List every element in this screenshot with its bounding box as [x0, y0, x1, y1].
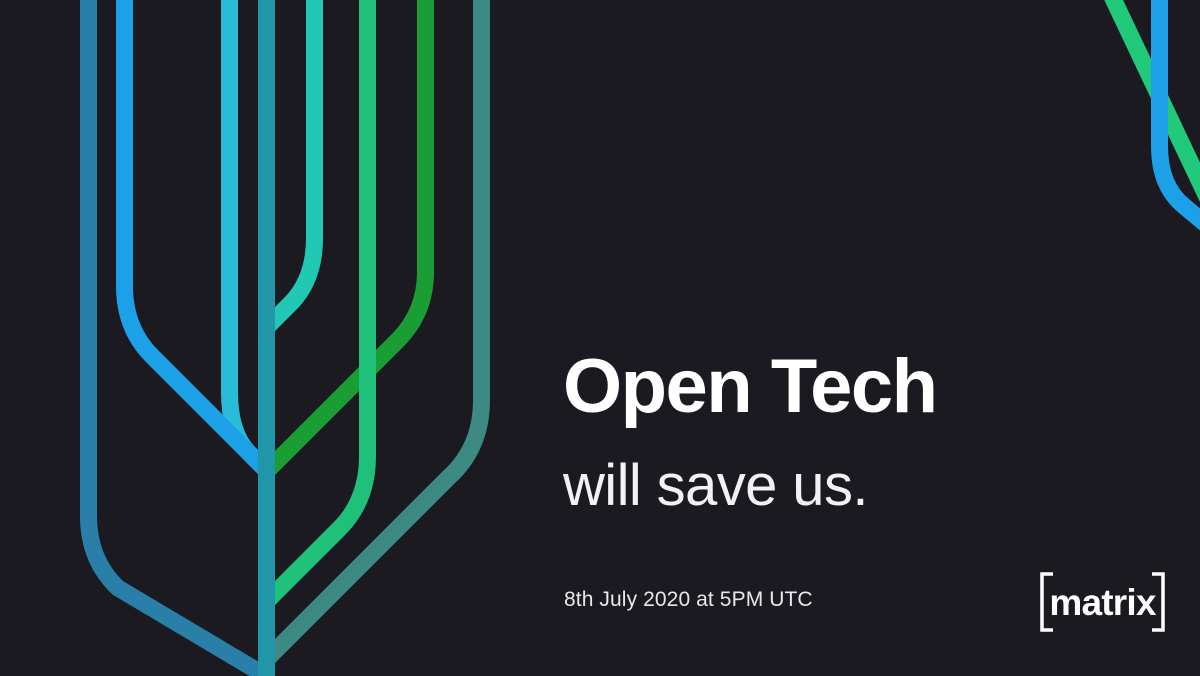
line-bright-blue [125, 0, 267, 470]
page-title: Open Tech will save us. [563, 349, 1183, 515]
line-forest-green [268, 0, 426, 470]
logo-wordmark-text: matrix [1039, 572, 1166, 632]
headline-secondary: will save us. [563, 457, 1183, 515]
matrix-logo: matrix [1039, 572, 1166, 632]
event-date-text: 8th July 2020 at 5PM UTC [564, 588, 813, 612]
event-banner: Open Tech will save us. 8th July 2020 at… [0, 0, 1200, 676]
headline-primary: Open Tech [563, 349, 1183, 425]
line-steel-blue [89, 0, 267, 676]
